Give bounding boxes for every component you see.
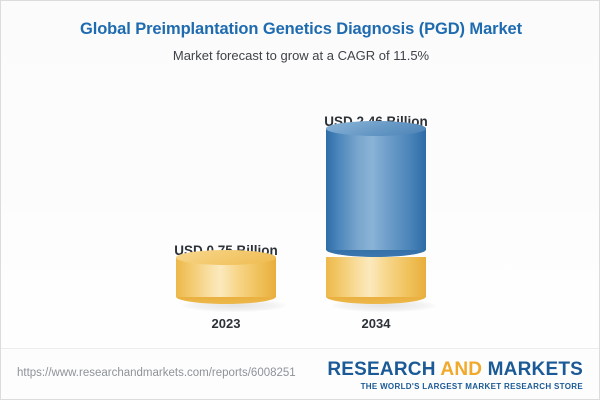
logo-word-markets: MARKETS	[488, 359, 583, 380]
bar-cylinder-2034-growth[interactable]	[326, 121, 426, 257]
cylinder-body-base	[326, 257, 426, 297]
cylinder-top-cap	[176, 250, 276, 265]
source-url[interactable]: https://www.researchandmarkets.com/repor…	[17, 367, 296, 379]
bar-cylinder-2034-base[interactable]	[326, 250, 426, 304]
cylinder-body-growth	[326, 128, 426, 250]
brand-logo: RESEARCH AND MARKETS THE WORLD'S LARGEST…	[327, 359, 583, 392]
cylinder-top-cap	[326, 121, 426, 136]
bar-cylinder-2023[interactable]	[176, 250, 276, 304]
chart-card: Global Preimplantation Genetics Diagnosi…	[0, 0, 600, 400]
chart-footer: https://www.researchandmarkets.com/repor…	[1, 348, 599, 399]
bar-category-label-2034: 2034	[296, 316, 456, 331]
logo-tagline: THE WORLD'S LARGEST MARKET RESEARCH STOR…	[327, 381, 583, 392]
bar-category-label-2023: 2023	[146, 316, 306, 331]
logo-word-research: RESEARCH	[327, 359, 435, 380]
logo-word-and: AND	[440, 359, 482, 380]
plot-area: USD 0.75 Billion 2023 USD 2.46 Billion	[1, 1, 600, 349]
logo-wordmark: RESEARCH AND MARKETS	[327, 359, 583, 380]
